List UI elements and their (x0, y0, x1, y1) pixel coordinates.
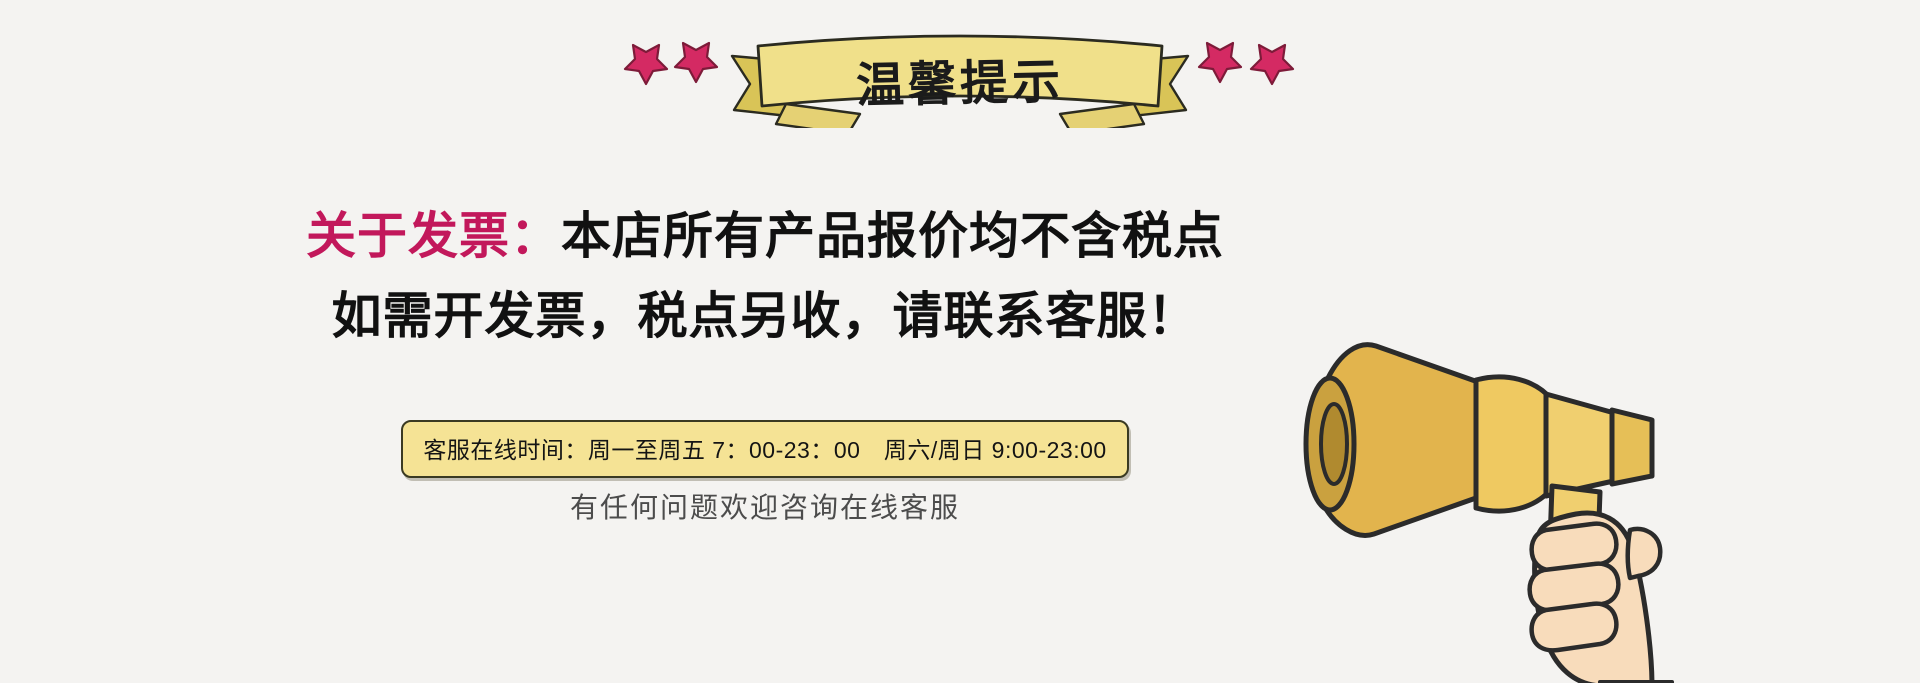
megaphone-neck (1476, 377, 1552, 511)
footnote-text: 有任何问题欢迎咨询在线客服 (570, 492, 960, 523)
ribbon-band (758, 36, 1162, 106)
promo-banner-page: 温馨提示 关于发票：本店所有产品报价均不含税点 如需开发票，税点另收，请联系客服… (0, 0, 1920, 683)
ribbon-banner-inner: 温馨提示 (610, 18, 1310, 128)
star-icon-right-outer (1251, 45, 1293, 84)
megaphone-barrel (1546, 394, 1618, 496)
ribbon-banner: 温馨提示 (0, 18, 1920, 128)
star-icon-left-outer (625, 45, 667, 84)
ribbon-fold-left (776, 104, 860, 128)
megaphone-rear-cap (1612, 410, 1652, 484)
notice-line-1-accent: 关于发票： (306, 208, 561, 264)
megaphone-illustration (1300, 230, 1920, 683)
ribbon-fold-right (1060, 104, 1144, 128)
hand-icon (1530, 513, 1672, 683)
star-icon-right-inner (1199, 43, 1241, 82)
star-icon-left-inner (675, 43, 717, 82)
service-hours-box: 客服在线时间：周一至周五 7：00-23：00 周六/周日 9:00-23:00 (401, 420, 1128, 478)
megaphone-mouth-inner (1321, 404, 1347, 484)
notice-line-1-rest: 本店所有产品报价均不含税点 (561, 208, 1224, 264)
megaphone-horn-icon (1306, 345, 1487, 536)
service-hours-text: 客服在线时间：周一至周五 7：00-23：00 周六/周日 9:00-23:00 (423, 437, 1106, 463)
ribbon-graphic (610, 18, 1310, 128)
